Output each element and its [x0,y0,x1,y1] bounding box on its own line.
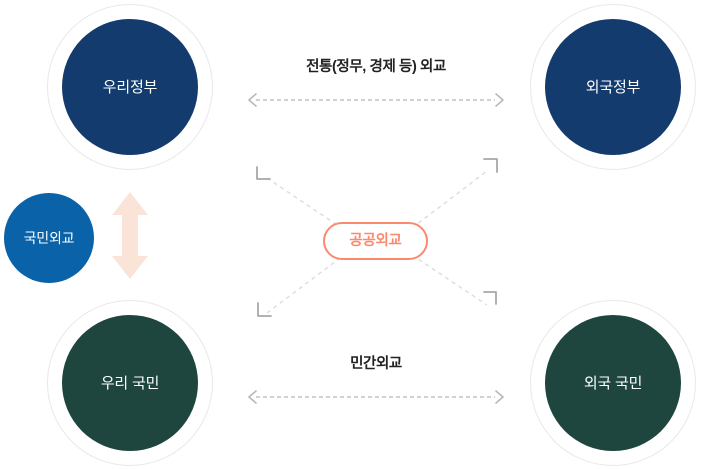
connector-diag2-segment-lower [267,258,340,313]
connector-diag2-arrowhead-lower-left [258,303,271,316]
connector-diag2-segment-upper [412,171,487,228]
vertical-double-arrow-icon [112,192,148,279]
diagram-canvas: 우리정부 외국정부 우리 국민 외국 국민 국민외교 공공외교 전통(정무, 경… [0,0,702,469]
connector-top-arrowhead-right [496,94,503,106]
node-foreign-citizens-label: 외국 국민 [584,376,642,391]
connector-top-caption: 전통(정무, 경제 등) 외교 [251,60,501,75]
node-public-diplomacy[interactable]: 공공외교 [323,222,428,260]
node-foreign-government-label: 외국정부 [586,80,640,95]
node-our-citizens-label: 우리 국민 [101,376,159,391]
connector-bottom-arrowhead-left [249,391,256,403]
connector-top-traditional-diplomacy [249,94,503,106]
connector-diag2-arrowhead-upper-right [484,159,497,172]
node-foreign-government[interactable]: 외국정부 [545,19,681,155]
node-foreign-citizens[interactable]: 외국 국민 [545,315,681,451]
connector-diag1-arrowhead-upper-left [257,167,270,179]
connector-bottom-private-diplomacy [249,391,503,403]
connector-top-arrowhead-left [249,94,256,106]
connector-bottom-caption: 민간외교 [251,357,501,372]
node-peoples-diplomacy[interactable]: 국민외교 [4,193,94,283]
connector-bottom-arrowhead-right [496,391,503,403]
node-public-diplomacy-label: 공공외교 [349,234,401,249]
node-our-government-label: 우리정부 [103,80,157,95]
connector-diag1-segment-lower [412,255,487,305]
node-peoples-diplomacy-label: 국민외교 [24,231,75,245]
node-our-government[interactable]: 우리정부 [62,19,198,155]
connector-diag1-segment-upper [267,178,340,227]
connector-diag1-arrowhead-lower-right [484,292,496,304]
node-our-citizens[interactable]: 우리 국민 [62,315,198,451]
connector-vertical-people-diplomacy [112,192,148,279]
